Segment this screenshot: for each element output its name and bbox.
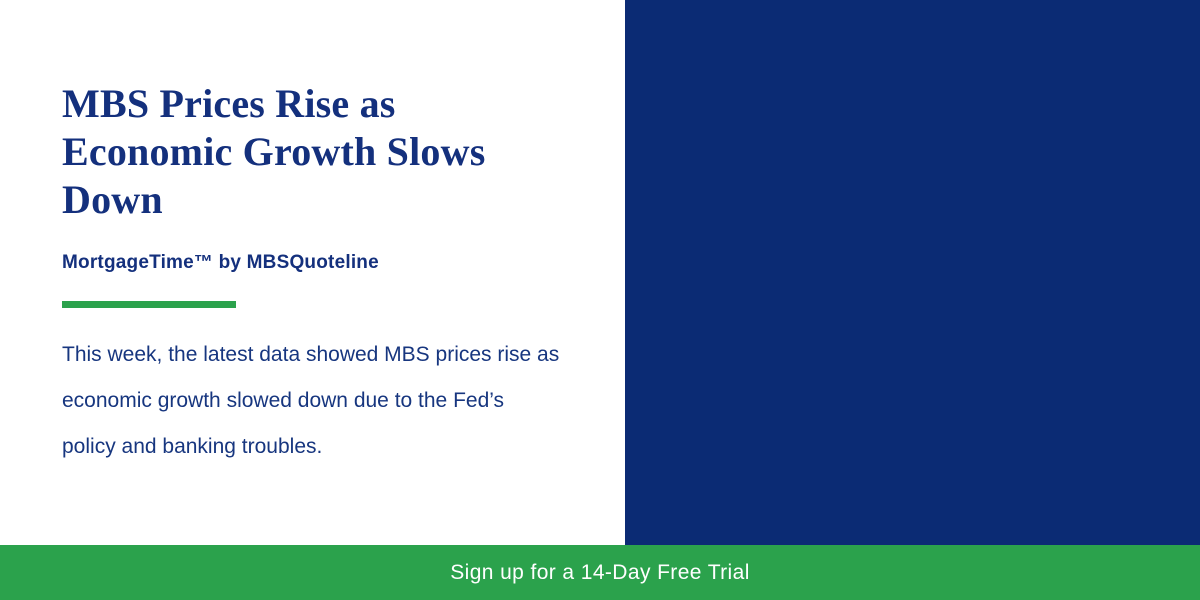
page-title: MBS Prices Rise as Economic Growth Slows… xyxy=(62,80,532,224)
green-divider-rule xyxy=(62,301,236,308)
brand-subtitle: MortgageTime™ by MBSQuoteline xyxy=(62,252,562,274)
left-content-panel: MBS Prices Rise as Economic Growth Slows… xyxy=(0,0,625,545)
signup-cta-bar[interactable]: Sign up for a 14-Day Free Trial xyxy=(0,545,1200,600)
signup-cta-label[interactable]: Sign up for a 14-Day Free Trial xyxy=(450,561,750,585)
summary-paragraph: This week, the latest data showed MBS pr… xyxy=(62,332,562,470)
infographic-canvas: MBS Prices Rise as Economic Growth Slows… xyxy=(0,0,1200,600)
right-navy-panel: Job Gains (thousands) 600 450 300 150 JU… xyxy=(625,0,1200,545)
